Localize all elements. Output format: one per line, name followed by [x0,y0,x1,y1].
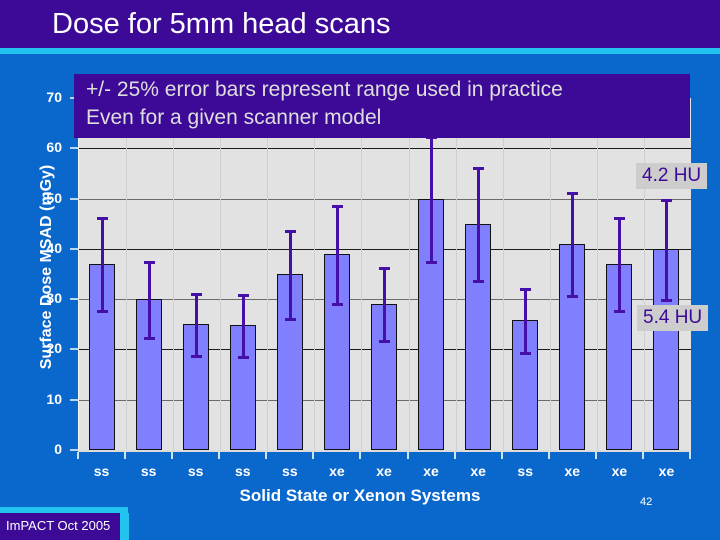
error-bar-cap-lower [379,340,390,343]
error-bar-line [101,217,104,310]
error-bar-cap-lower [332,303,343,306]
error-bar-cap-upper [614,217,625,220]
error-bar-cap-lower [567,295,578,298]
category-separator [173,98,174,450]
x-tick-mark [595,452,597,459]
annotation-label: 5.4 HU [637,305,708,331]
footer-label: ImPACT Oct 2005 [6,518,110,533]
x-tick-label: xe [642,463,690,479]
x-tick-label: ss [501,463,549,479]
slide-canvas: Dose for 5mm head scans 010203040506070 … [0,0,720,540]
x-tick-label: xe [548,463,596,479]
error-bar-line [242,294,245,356]
x-tick-label: ss [172,463,220,479]
y-gridline [79,249,691,250]
footer-accent-tab [120,513,129,540]
error-bar-cap-lower [238,356,249,359]
error-bar-cap-lower [285,318,296,321]
x-tick-label: ss [78,463,126,479]
error-bar-line [430,136,433,262]
y-tick-mark [70,399,78,401]
error-bar-line [289,230,292,318]
category-separator [597,98,598,450]
category-separator [503,98,504,450]
error-bar-cap-lower [97,310,108,313]
y-tick-mark [70,147,78,149]
error-bar-line [665,199,668,300]
error-bar-line [571,192,574,295]
error-bar-cap-upper [473,167,484,170]
y-tick-mark [70,298,78,300]
x-tick-mark [689,452,691,459]
x-tick-mark [548,452,550,459]
error-bar-cap-upper [97,217,108,220]
y-tick-mark [70,248,78,250]
overlay-note-line-1: +/- 25% error bars represent range used … [86,78,563,102]
error-bar-cap-upper [520,288,531,291]
x-tick-label: xe [360,463,408,479]
y-gridline [79,148,691,149]
error-bar-line [148,261,151,336]
x-tick-mark [77,452,79,459]
error-bar-cap-upper [144,261,155,264]
x-tick-mark [642,452,644,459]
error-bar-cap-upper [661,199,672,202]
error-bar-line [477,167,480,280]
page-title: Dose for 5mm head scans [52,8,390,41]
overlay-note-box: +/- 25% error bars represent range used … [74,74,690,138]
error-bar-cap-upper [238,294,249,297]
error-bar-cap-lower [191,355,202,358]
y-tick-label: 0 [26,441,62,457]
category-separator [220,98,221,450]
x-tick-label: xe [313,463,361,479]
x-tick-mark [171,452,173,459]
error-bar-cap-upper [567,192,578,195]
y-tick-mark [70,348,78,350]
error-bar-cap-upper [379,267,390,270]
error-bar-line [195,293,198,356]
annotation-label: 4.2 HU [636,163,707,189]
y-axis-title: Surface Dose MSAD (mGy) [38,102,56,432]
x-axis-line [78,450,691,452]
x-tick-mark [124,452,126,459]
x-tick-mark [407,452,409,459]
category-separator [361,98,362,450]
error-bar-line [618,217,621,310]
x-tick-mark [359,452,361,459]
x-tick-label: ss [266,463,314,479]
error-bar-cap-lower [614,310,625,313]
error-bar-line [336,205,339,303]
category-separator [409,98,410,450]
error-bar-cap-upper [191,293,202,296]
title-underline [0,48,720,54]
category-separator [126,98,127,450]
error-bar-cap-lower [661,299,672,302]
overlay-note-line-2: Even for a given scanner model [86,106,381,130]
page-number: 42 [640,496,652,508]
y-tick-mark [70,198,78,200]
x-axis-title: Solid State or Xenon Systems [0,486,720,506]
x-tick-label: xe [454,463,502,479]
category-separator [267,98,268,450]
error-bar-cap-upper [285,230,296,233]
error-bar-cap-lower [473,280,484,283]
category-separator [550,98,551,450]
x-tick-label: ss [219,463,267,479]
y-gridline [79,199,691,200]
y-tick-mark [70,449,78,451]
error-bar-line [524,288,527,353]
x-tick-label: xe [595,463,643,479]
x-tick-mark [312,452,314,459]
category-separator [456,98,457,450]
x-tick-mark [454,452,456,459]
x-tick-mark [265,452,267,459]
x-tick-mark [218,452,220,459]
x-tick-label: ss [125,463,173,479]
error-bar-cap-lower [426,261,437,264]
error-bar-cap-lower [520,352,531,355]
category-separator [314,98,315,450]
x-tick-label: xe [407,463,455,479]
error-bar-cap-lower [144,337,155,340]
error-bar-line [383,267,386,340]
x-tick-mark [501,452,503,459]
error-bar-cap-upper [332,205,343,208]
category-separator [644,98,645,450]
